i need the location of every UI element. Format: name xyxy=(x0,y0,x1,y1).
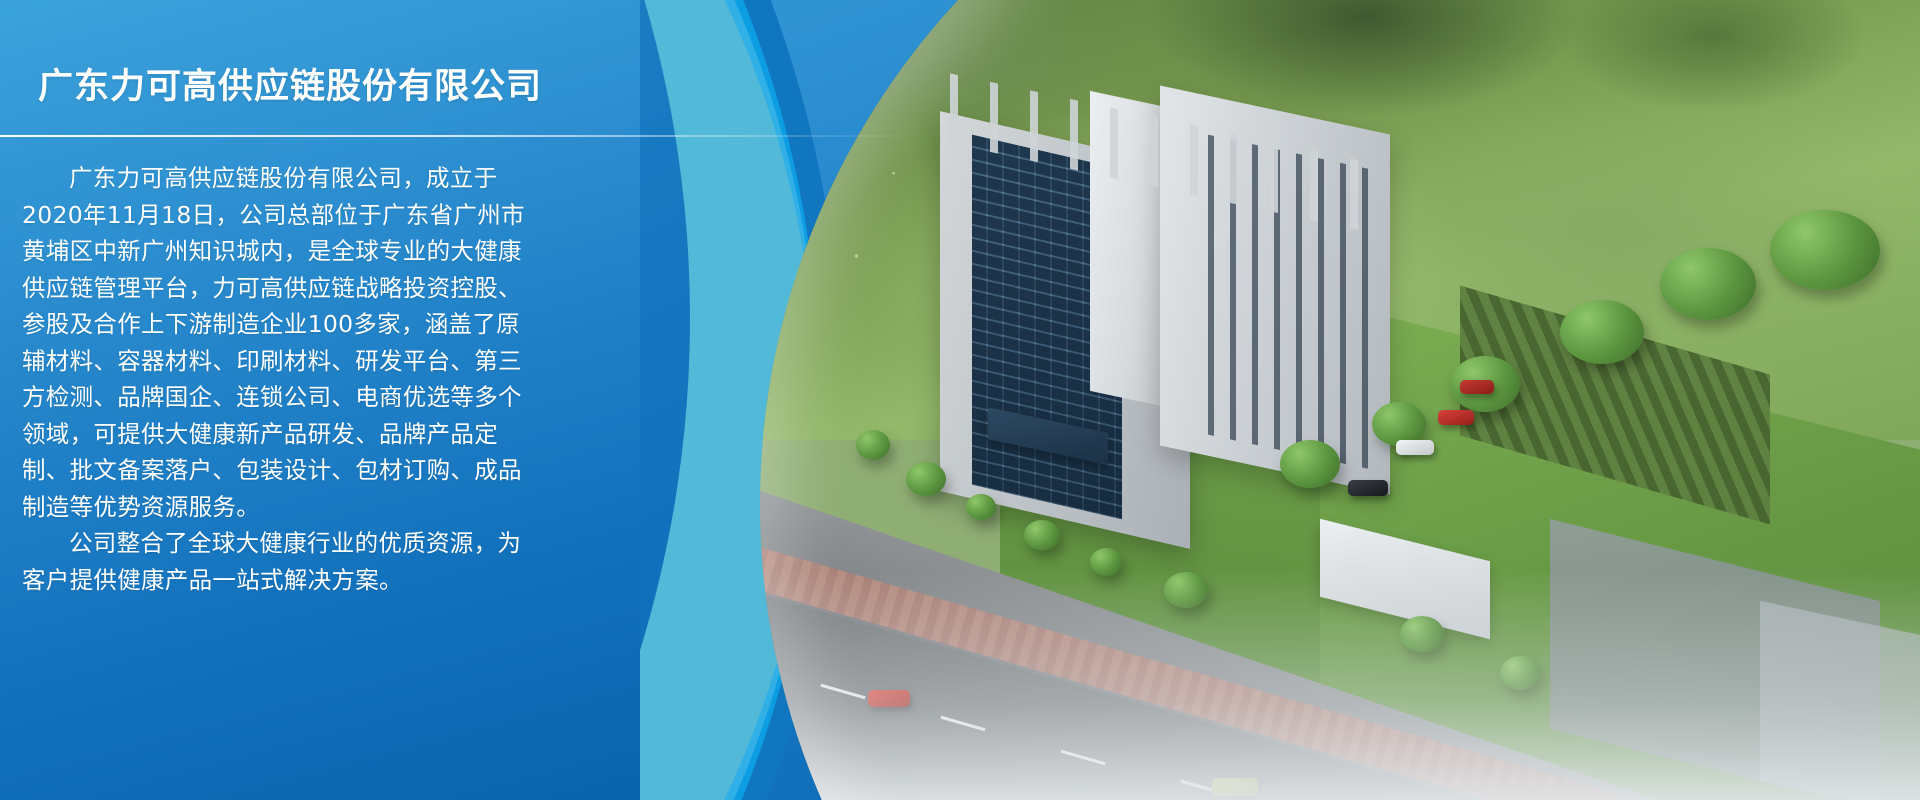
tree xyxy=(856,430,890,460)
tree xyxy=(906,462,946,496)
banner-root: 广东力可高供应链股份有限公司 广东力可高供应链股份有限公司，成立于2020年11… xyxy=(0,0,1920,800)
tree xyxy=(1280,440,1340,488)
car-red xyxy=(1438,410,1474,425)
mist-overlay xyxy=(760,570,1920,800)
car-red xyxy=(1460,380,1494,394)
page-title: 广东力可高供应链股份有限公司 xyxy=(38,58,542,109)
paragraph-1: 广东力可高供应链股份有限公司，成立于2020年11月18日，公司总部位于广东省广… xyxy=(22,160,534,525)
company-description: 广东力可高供应链股份有限公司，成立于2020年11月18日，公司总部位于广东省广… xyxy=(22,160,534,598)
tree xyxy=(1660,248,1756,320)
paragraph-2: 公司整合了全球大健康行业的优质资源，为客户提供健康产品一站式解决方案。 xyxy=(22,525,534,598)
tree xyxy=(1560,300,1644,364)
text-panel: 广东力可高供应链股份有限公司 广东力可高供应链股份有限公司，成立于2020年11… xyxy=(0,0,640,800)
car-white xyxy=(1396,440,1434,455)
facility-photo xyxy=(760,0,1920,800)
tree xyxy=(1770,210,1880,290)
tree xyxy=(966,494,996,520)
facility-photo-canvas xyxy=(760,0,1920,800)
title-divider xyxy=(0,135,920,137)
car-black xyxy=(1348,480,1388,496)
tree xyxy=(1024,520,1060,550)
